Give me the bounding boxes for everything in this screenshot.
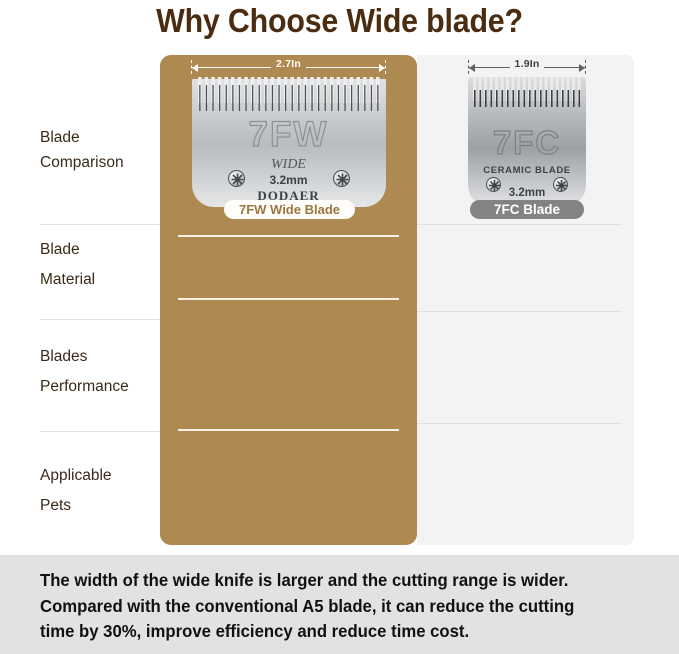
row-divider-2-left (40, 319, 160, 320)
ceramic-blade-pill: 7FC Blade (470, 200, 584, 219)
dimension-label: 2.7In (186, 58, 391, 70)
screw-icon-right (333, 170, 350, 187)
ceramic-blade-graphic: 1.9In (463, 60, 591, 207)
wide-blade-wide-text: WIDE (192, 157, 386, 173)
screw-icon-left (228, 170, 245, 187)
dimension-label: 1.9In (463, 58, 591, 70)
footer-band: The width of the wide knife is larger an… (0, 555, 679, 654)
wide-blade-graphic: 2.7In (186, 60, 391, 207)
row-label-blade-comparison: Blade Comparison (40, 125, 162, 175)
wide-blade-model-text: 7FW (192, 115, 386, 155)
infographic-root: Why Choose Wide blade? Blade Comparison … (0, 0, 679, 654)
row-divider-1-left (40, 224, 160, 225)
row-label-applicable-pets: Applicable Pets (40, 463, 162, 518)
ceramic-blade-type-text: CERAMIC BLADE (468, 165, 586, 176)
wide-blade-body: 7FW WIDE 3.2mm DODAER (192, 77, 386, 207)
row-divider-1-brown (178, 235, 399, 237)
ceramic-blade-dimension: 1.9In (463, 60, 591, 74)
ceramic-blade-body: 7FC CERAMIC BLADE 3.2mm (468, 77, 586, 207)
row-divider-2-right (417, 311, 622, 312)
footer-text: The width of the wide knife is larger an… (40, 568, 618, 645)
row-divider-1-right (417, 224, 622, 225)
row-divider-3-right (417, 423, 622, 424)
row-divider-2-brown (178, 298, 399, 300)
screw-icon-left (486, 177, 501, 192)
row-label-blades-performance: Blades Performance (40, 344, 162, 399)
wide-blade-thickness: 3.2mm (192, 173, 386, 187)
screw-icon-right (553, 177, 568, 192)
wide-blade-pill: 7FW Wide Blade (224, 200, 355, 219)
wide-blade-dimension: 2.7In (186, 60, 391, 74)
row-divider-3-left (40, 431, 160, 432)
page-title: Why Choose Wide blade? (27, 2, 652, 40)
blade-teeth (468, 77, 586, 119)
row-divider-3-brown (178, 429, 399, 431)
ceramic-blade-model-text: 7FC (468, 124, 586, 162)
row-label-blade-material: Blade Material (40, 237, 162, 292)
